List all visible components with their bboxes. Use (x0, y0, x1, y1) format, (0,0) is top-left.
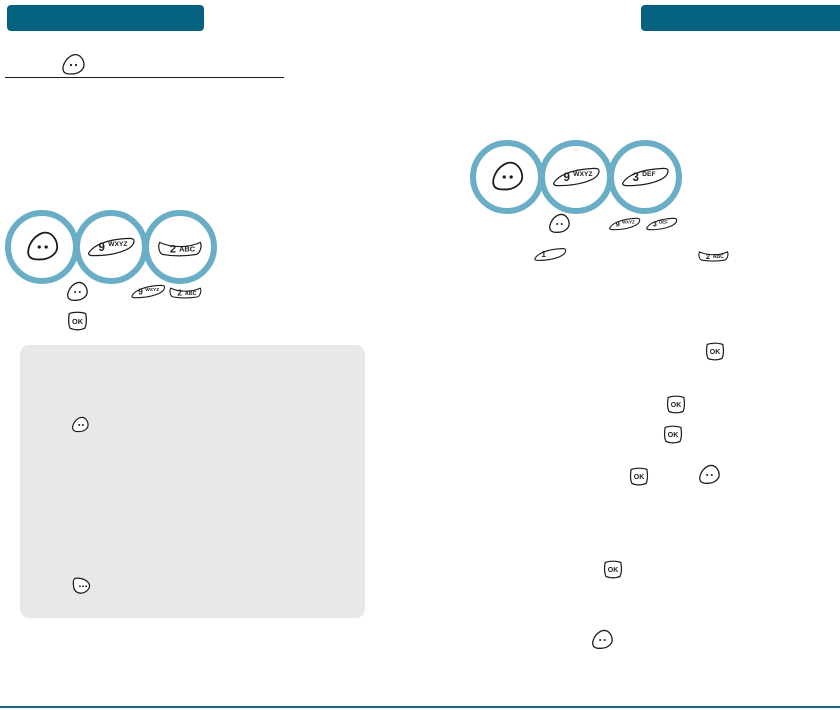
right-chain-node-1[interactable] (470, 140, 544, 214)
softkey-left-icon (63, 280, 91, 304)
keypad-key-number: 9 (99, 242, 105, 254)
softkey-left-icon (588, 628, 616, 652)
keypad-key-icon: 9 WXYZ (130, 282, 166, 301)
ok-key-icon: OK (601, 559, 625, 580)
keypad-key-icon: 9 WXYZ (608, 215, 641, 233)
ok-key-label: OK (671, 402, 682, 409)
keypad-key-letters: WXYZ (622, 219, 635, 224)
ok-key-label: OK (668, 432, 679, 439)
keypad-key-letters: DEF (642, 171, 655, 178)
keypad-key-icon: 9 WXYZ (551, 164, 601, 190)
softkey-right-icon (70, 575, 93, 596)
keypad-key-letters: WXYZ (573, 171, 592, 178)
keypad-key-number: 2 (706, 252, 710, 261)
page-root: 9 WXYZ 2 ABC 9 (0, 0, 840, 710)
keypad-key-icon: 1 (533, 245, 567, 264)
keypad-key-letters: WXYZ (108, 241, 127, 248)
ok-key-icon: OK (661, 424, 685, 445)
header-bar-left (7, 5, 204, 31)
ok-key-label: OK (608, 567, 619, 574)
keypad-key-number: 3 (653, 220, 657, 229)
keypad-key-letters: ABC (185, 291, 197, 297)
ok-key-icon: OK (627, 466, 651, 487)
keypad-key-icon: 2 ABC (168, 282, 203, 301)
keypad-key-letters: ABC (179, 245, 196, 254)
keypad-key-number: 2 (177, 289, 182, 298)
left-chain-node-2[interactable]: 9 WXYZ (74, 210, 148, 284)
section-title-rule (5, 77, 284, 78)
ok-key-icon: OK (65, 310, 90, 332)
keypad-key-number: 1 (542, 250, 547, 259)
softkey-left-icon (69, 415, 91, 435)
keypad-key-number: 2 (170, 244, 176, 256)
ok-key-label: OK (634, 474, 645, 481)
keypad-key-letters: DEF (659, 219, 668, 224)
keypad-key-number: 3 (633, 172, 639, 184)
softkey-left-icon (21, 229, 63, 265)
keypad-key-number: 9 (616, 220, 620, 229)
footer-rule (0, 706, 840, 708)
left-step-chain: 9 WXYZ 2 ABC (5, 210, 220, 290)
keypad-key-letters: ABC (713, 254, 724, 260)
keypad-key-number: 9 (564, 172, 570, 184)
right-step-chain: 9 WXYZ 3 DEF (470, 140, 685, 220)
ok-key-label: OK (710, 349, 721, 356)
left-chain-node-1[interactable] (5, 210, 79, 284)
right-chain-node-3[interactable]: 3 DEF (608, 140, 682, 214)
softkey-left-icon (58, 52, 88, 78)
keypad-key-icon: 9 WXYZ (86, 234, 136, 260)
ok-key-icon: OK (703, 341, 727, 362)
keypad-key-icon: 2 ABC (697, 246, 730, 264)
keypad-key-number: 9 (138, 286, 143, 296)
right-chain-node-2[interactable]: 9 WXYZ (539, 140, 613, 214)
ok-key-label: OK (72, 317, 84, 326)
ok-key-icon: OK (664, 394, 688, 415)
softkey-left-icon (695, 463, 723, 487)
keypad-key-icon: 3 DEF (645, 215, 678, 233)
header-bar-right (641, 5, 840, 31)
keypad-key-letters: WXYZ (145, 287, 159, 293)
keypad-key-icon: 2 ABC (156, 234, 204, 260)
softkey-left-icon (545, 212, 573, 236)
left-chain-node-3[interactable]: 2 ABC (143, 210, 217, 284)
keypad-key-icon: 3 DEF (620, 164, 670, 190)
softkey-left-icon (486, 159, 528, 195)
